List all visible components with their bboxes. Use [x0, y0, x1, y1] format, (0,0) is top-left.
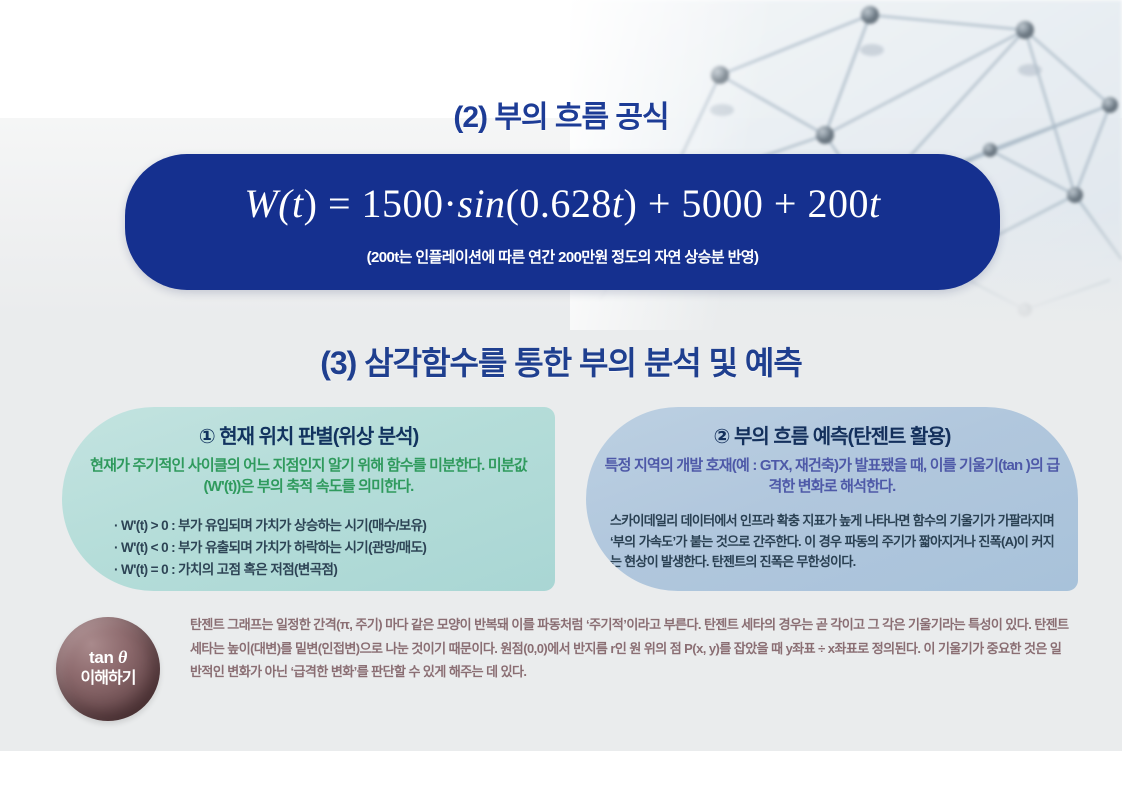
section-2-heading: (2) 부의 흐름 공식: [0, 92, 1122, 136]
tan-theta-badge-line1: tan θ: [89, 648, 127, 668]
tan-theta-badge: tan θ 이해하기: [56, 617, 160, 721]
card-lead: 특정 지역의 개발 호재(예 : GTX, 재건축)가 발표됐을 때, 이를 기…: [604, 455, 1060, 498]
card-title: ① 현재 위치 판별(위상 분석): [62, 420, 555, 449]
card-body: 스카이데일리 데이터에서 인프라 확충 지표가 높게 나타나면 함수의 기울기가…: [610, 511, 1054, 573]
formula-expression: W(t) = 1500·sin(0.628t) + 5000 + 200t: [125, 180, 1000, 227]
card-tangent-forecast: ② 부의 흐름 예측(탄젠트 활용) 특정 지역의 개발 호재(예 : GTX,…: [586, 407, 1078, 591]
tan-theta-explanation: 탄젠트 그래프는 일정한 간격(π, 주기) 마다 같은 모양이 반복돼 이를 …: [190, 613, 1070, 684]
tan-theta-badge-line2: 이해하기: [81, 668, 136, 690]
card-lead: 현재가 주기적인 사이클의 어느 지점인지 알기 위해 함수를 미분한다. 미분…: [80, 455, 537, 498]
card-title: ② 부의 흐름 예측(탄젠트 활용): [586, 420, 1078, 449]
formula-note: (200t는 인플레이션에 따른 연간 200만원 정도의 자연 상승분 반영): [125, 246, 1000, 267]
formula-capsule: W(t) = 1500·sin(0.628t) + 5000 + 200t (2…: [125, 154, 1000, 290]
card-phase-analysis: ① 현재 위치 판별(위상 분석) 현재가 주기적인 사이클의 어느 지점인지 …: [62, 407, 555, 591]
bullet-item: · W'(t) = 0 : 가치의 고점 혹은 저점(변곡점): [114, 559, 535, 581]
section-3-heading: (3) 삼각함수를 통한 부의 분석 및 예측: [0, 338, 1122, 384]
bullet-item: · W'(t) < 0 : 부가 유출되며 가치가 하락하는 시기(관망/매도): [114, 537, 535, 559]
bullet-item: · W'(t) > 0 : 부가 유입되며 가치가 상승하는 시기(매수/보유): [114, 515, 535, 537]
card-bullets: · W'(t) > 0 : 부가 유입되며 가치가 상승하는 시기(매수/보유)…: [114, 515, 535, 581]
infographic-page: (2) 부의 흐름 공식 W(t) = 1500·sin(0.628t) + 5…: [0, 0, 1122, 793]
